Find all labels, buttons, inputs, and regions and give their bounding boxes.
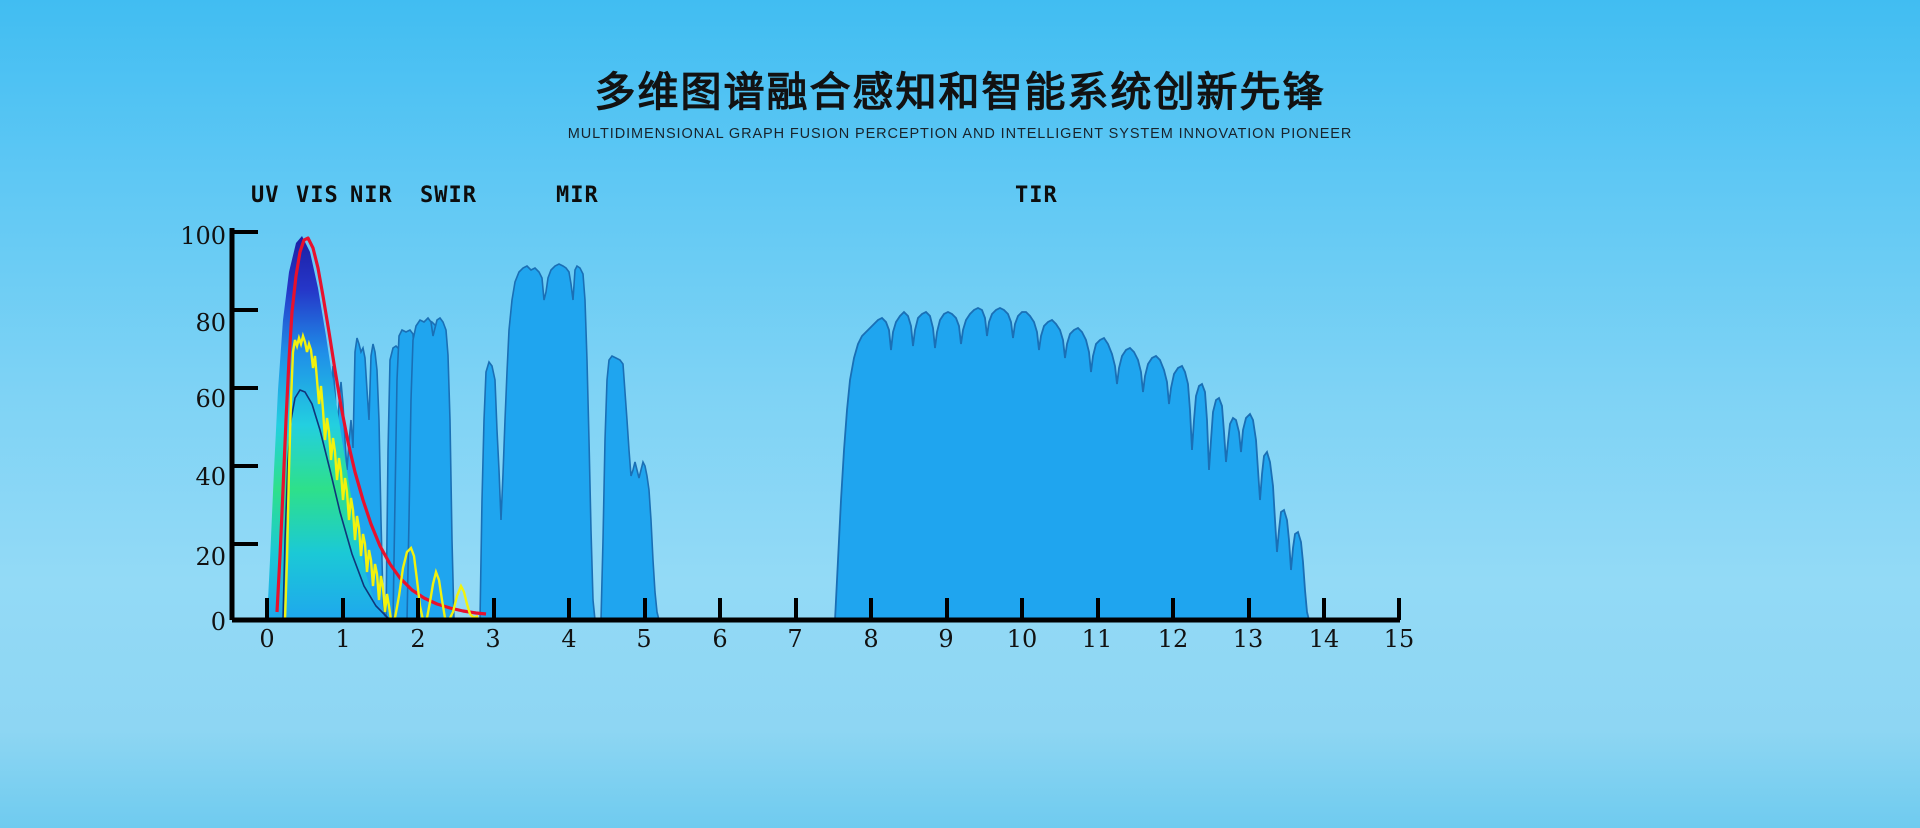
band-area-mir-a	[480, 264, 595, 620]
band-area-tir	[835, 308, 1309, 620]
y-axis-ticks	[232, 232, 258, 544]
transmission-bands	[283, 264, 1309, 620]
band-area-mir-b	[601, 356, 659, 620]
spectrum-chart	[0, 0, 1920, 828]
poster-canvas: 多维图谱融合感知和智能系统创新先锋 MULTIDIMENSIONAL GRAPH…	[0, 0, 1920, 828]
band-area-swir-2	[407, 318, 454, 620]
